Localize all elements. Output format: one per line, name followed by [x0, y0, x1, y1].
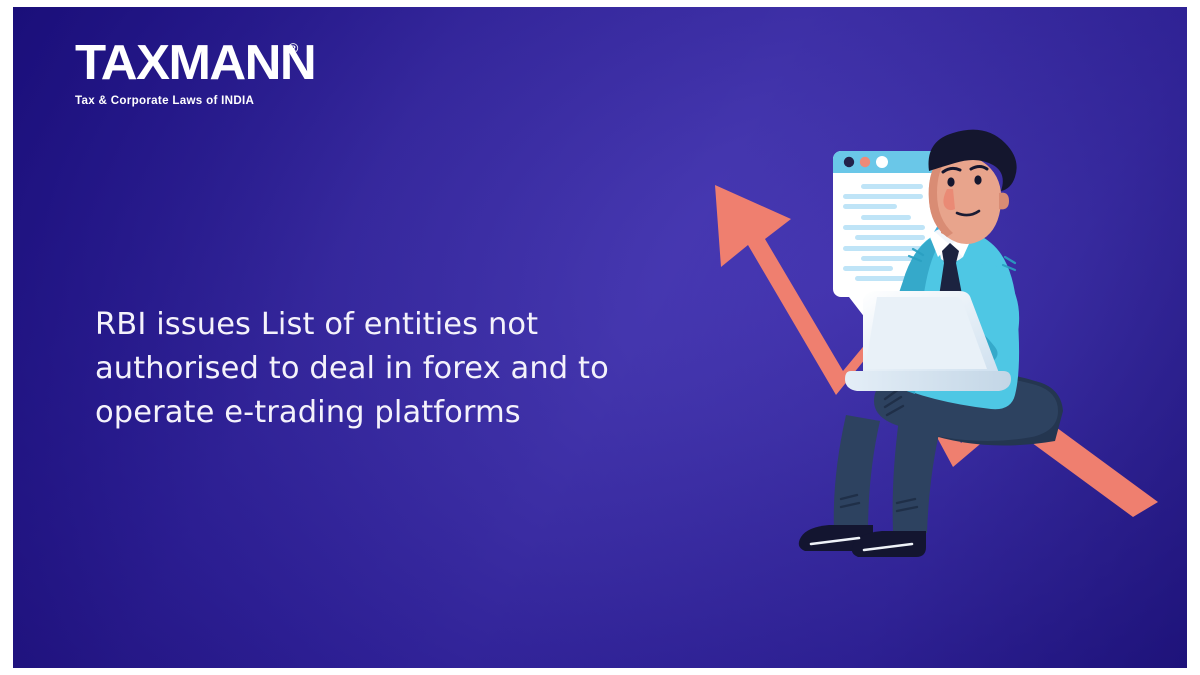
trouser-shin-front [834, 415, 880, 533]
window-dot-white-icon[interactable] [876, 156, 888, 168]
eye-right [974, 175, 981, 184]
window-dot-coral-icon[interactable] [860, 157, 870, 167]
promo-banner: TAXMANN ® Tax & Corporate Laws of INDIA … [13, 7, 1187, 668]
window-dot-dark-icon[interactable] [844, 157, 854, 167]
logo-tagline: Tax & Corporate Laws of INDIA [75, 94, 306, 107]
headline-text: RBI issues List of entities not authoris… [95, 303, 675, 435]
hero-illustration [653, 127, 1183, 557]
eye-left [947, 177, 954, 186]
laptop-base [845, 371, 1011, 391]
taxmann-logo[interactable]: TAXMANN ® Tax & Corporate Laws of INDIA [75, 39, 306, 107]
banner-canvas: TAXMANN ® Tax & Corporate Laws of INDIA … [0, 0, 1200, 675]
registered-trademark-icon: ® [288, 41, 298, 55]
trouser-shin-back [893, 419, 941, 533]
ear [999, 193, 1009, 210]
logo-wordmark: TAXMANN [75, 39, 315, 88]
